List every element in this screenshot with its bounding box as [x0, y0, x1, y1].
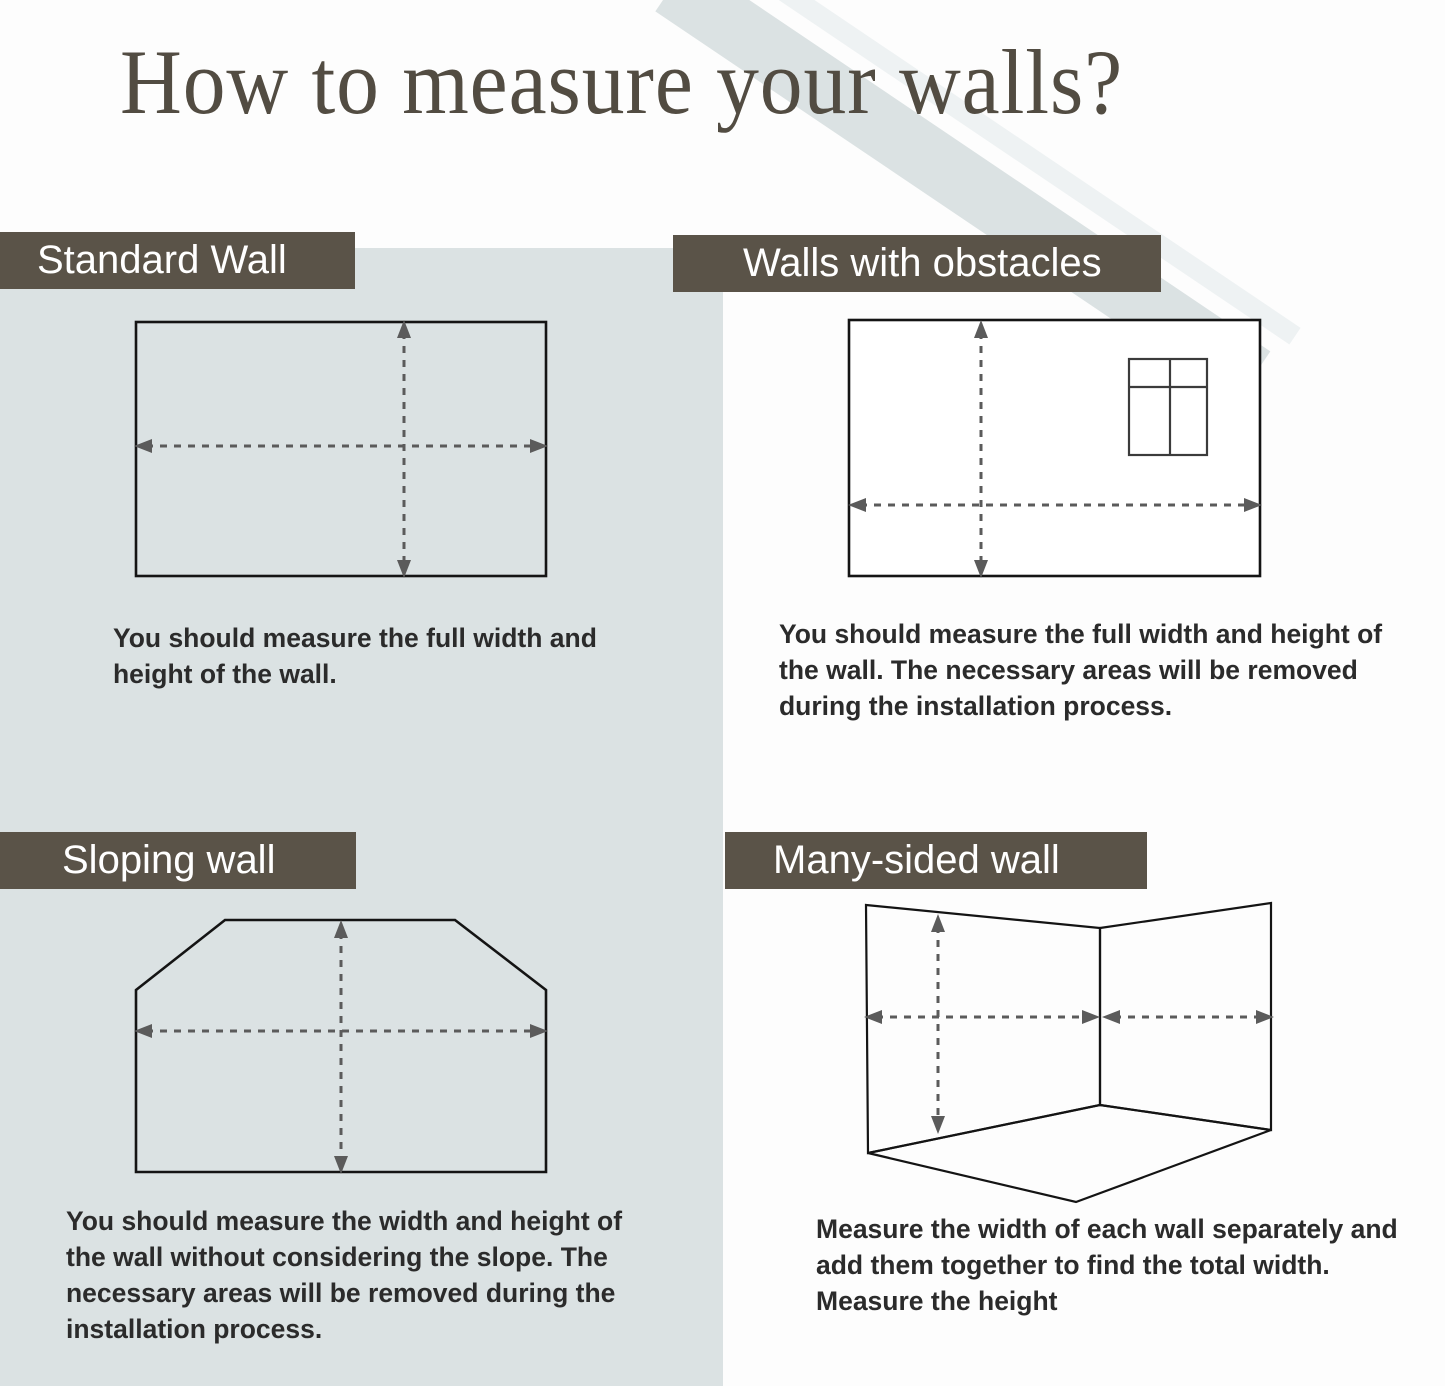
diagram-walls-with-obstacles [830, 300, 1300, 600]
page-title: How to measure your walls? [120, 34, 1123, 131]
diagram-sloping-wall [110, 890, 580, 1200]
section-heading-sloping-wall: Sloping wall [0, 832, 356, 889]
section-heading-many-sided-wall: Many-sided wall [725, 832, 1147, 889]
caption-walls-with-obstacles: You should measure the full width and he… [779, 616, 1404, 724]
infographic-page: How to measure your walls? Standard Wall… [0, 0, 1445, 1386]
width-dimension-marker [134, 439, 548, 453]
left-wall-width-dimension-marker [864, 1010, 1100, 1024]
caption-sloping-wall: You should measure the width and height … [66, 1203, 666, 1347]
left-wall-face [866, 905, 1100, 1153]
caption-many-sided-wall: Measure the width of each wall separatel… [816, 1211, 1426, 1319]
section-heading-walls-with-obstacles: Walls with obstacles [673, 235, 1161, 292]
height-dimension-marker [931, 914, 945, 1134]
section-heading-standard-wall: Standard Wall [0, 232, 355, 289]
wall-outline [136, 322, 546, 576]
right-wall-width-dimension-marker [1102, 1010, 1274, 1024]
floor-face [868, 1105, 1271, 1202]
height-dimension-marker [334, 920, 348, 1174]
diagram-standard-wall [110, 300, 580, 600]
height-dimension-marker [397, 320, 411, 578]
caption-standard-wall: You should measure the full width and he… [113, 620, 613, 692]
diagram-many-sided-wall [840, 890, 1310, 1220]
